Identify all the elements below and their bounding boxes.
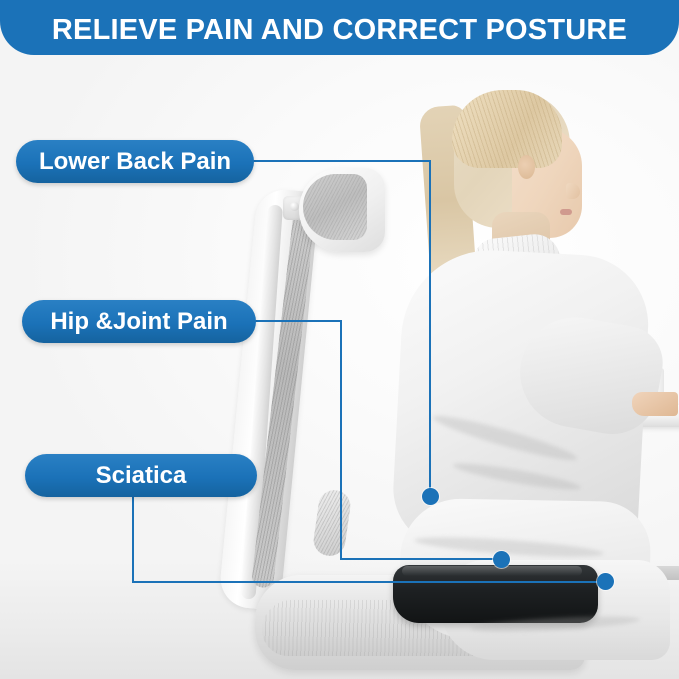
header-title: RELIEVE PAIN AND CORRECT POSTURE [52,14,627,47]
product-infographic: Lower Back Pain Hip &Joint Pain Sciatica… [0,0,679,679]
callout-badge-sciatica[interactable]: Sciatica [25,454,257,497]
callout-label-sciatica: Sciatica [96,462,187,490]
dot-hip-joint-pain [493,551,510,568]
callout-badge-lower-back-pain[interactable]: Lower Back Pain [16,140,254,183]
connector-hip-joint-horizontal-1 [254,320,342,322]
connector-hip-joint-vertical [340,320,342,559]
callout-label-lower-back-pain: Lower Back Pain [39,148,231,176]
dot-lower-back-pain [422,488,439,505]
callout-label-hip-joint-pain: Hip &Joint Pain [50,308,227,336]
connector-lower-back-horizontal [252,160,431,162]
callout-badge-hip-joint-pain[interactable]: Hip &Joint Pain [22,300,256,343]
connector-sciatica-horizontal [132,581,607,583]
connector-sciatica-vertical [132,496,134,582]
dot-sciatica [597,573,614,590]
connector-lower-back-vertical [429,160,431,496]
header-banner: RELIEVE PAIN AND CORRECT POSTURE [0,0,679,55]
connector-hip-joint-horizontal-2 [340,558,502,560]
